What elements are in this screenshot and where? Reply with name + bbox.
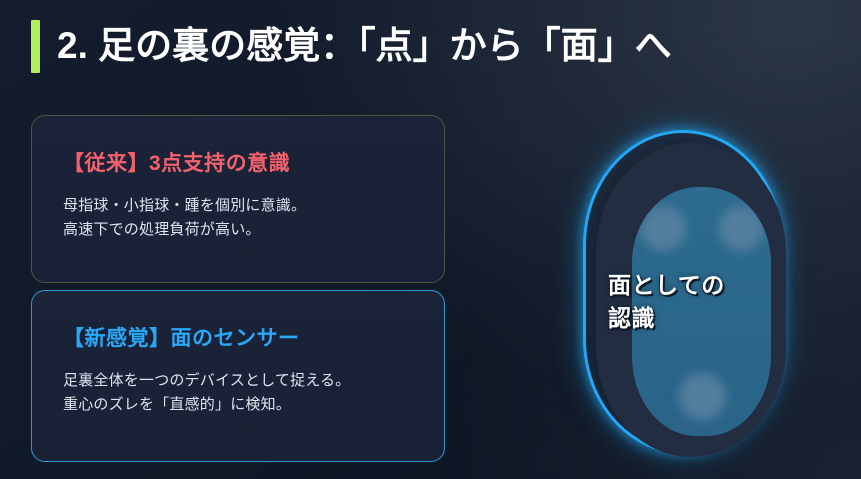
title-accent-bar bbox=[31, 20, 40, 73]
page-title: 2. 足の裏の感覚：「点」から「面」へ bbox=[31, 20, 672, 73]
card-conventional-heading: 【従来】3点支持の意識 bbox=[63, 147, 290, 177]
card-conventional: 【従来】3点支持の意識 母指球・小指球・踵を個別に意識。 高速下での処理負荷が高… bbox=[31, 115, 445, 283]
card-new-sensation-line-2: 重心のズレを「直感的」に検知。 bbox=[63, 393, 350, 417]
foot-outline-glow: 面としての認識 bbox=[583, 130, 783, 454]
page-title-text: 2. 足の裏の感覚：「点」から「面」へ bbox=[57, 27, 672, 66]
foot-ring: 面としての認識 bbox=[596, 143, 786, 457]
card-new-sensation-heading: 【新感覚】面のセンサー bbox=[63, 322, 300, 352]
slide-canvas: 2. 足の裏の感覚：「点」から「面」へ 【従来】3点支持の意識 母指球・小指球・… bbox=[0, 0, 861, 479]
card-conventional-body: 母指球・小指球・踵を個別に意識。 高速下での処理負荷が高い。 bbox=[63, 194, 306, 243]
card-new-sensation-line-1: 足裏全体を一つのデバイスとして捉える。 bbox=[63, 369, 350, 393]
card-new-sensation-body: 足裏全体を一つのデバイスとして捉える。 重心のズレを「直感的」に検知。 bbox=[63, 369, 350, 418]
foot-diagram-label: 面としての認識 bbox=[608, 269, 728, 336]
pressure-pad-ball-left-icon bbox=[641, 206, 686, 251]
card-conventional-line-1: 母指球・小指球・踵を個別に意識。 bbox=[63, 194, 306, 218]
card-new-sensation: 【新感覚】面のセンサー 足裏全体を一つのデバイスとして捉える。 重心のズレを「直… bbox=[31, 290, 445, 462]
card-conventional-line-2: 高速下での処理負荷が高い。 bbox=[63, 218, 306, 242]
foot-sole-diagram: 面としての認識 bbox=[578, 125, 788, 459]
pressure-pad-heel-icon bbox=[679, 373, 726, 420]
pressure-pad-ball-right-icon bbox=[719, 206, 764, 251]
